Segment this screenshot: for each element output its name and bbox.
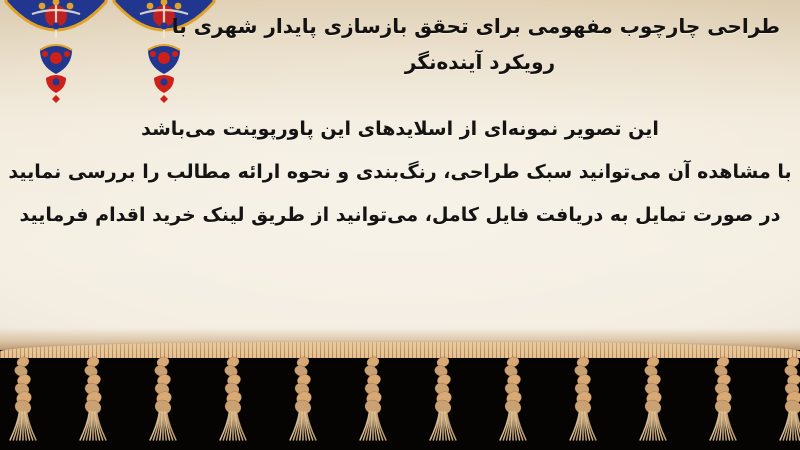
carpet-fringe	[0, 350, 800, 450]
fringe-tassel	[78, 356, 108, 444]
slide-body: این تصویر نمونه‌ای از اسلایدهای این پاور…	[0, 108, 800, 237]
fringe-tassel	[8, 356, 38, 444]
fringe-tassel	[498, 356, 528, 444]
body-line-2: با مشاهده آن می‌توانید سبک طراحی، رنگ‌بن…	[0, 151, 800, 194]
presentation-slide: طراحی چارچوب مفهومی برای تحقق بازسازی پا…	[0, 0, 800, 450]
fringe-tassel	[638, 356, 668, 444]
fringe-tassel	[708, 356, 738, 444]
fringe-tassel	[288, 356, 318, 444]
fringe-tassel	[148, 356, 178, 444]
carpet-medallion-left-icon	[0, 0, 116, 108]
body-line-1: این تصویر نمونه‌ای از اسلایدهای این پاور…	[0, 108, 800, 151]
fringe-tassel	[778, 356, 800, 444]
title-line-1: طراحی چارچوب مفهومی برای تحقق بازسازی پا…	[180, 8, 780, 44]
fringe-tassel	[358, 356, 388, 444]
body-line-3: در صورت تمایل به دریافت فایل کامل، می‌تو…	[0, 194, 800, 237]
slide-title: طراحی چارچوب مفهومی برای تحقق بازسازی پا…	[180, 8, 780, 80]
fringe-tassel	[568, 356, 598, 444]
fringe-tassel	[218, 356, 248, 444]
title-line-2: رویکرد آینده‌نگر	[180, 44, 780, 80]
fringe-tassel	[428, 356, 458, 444]
